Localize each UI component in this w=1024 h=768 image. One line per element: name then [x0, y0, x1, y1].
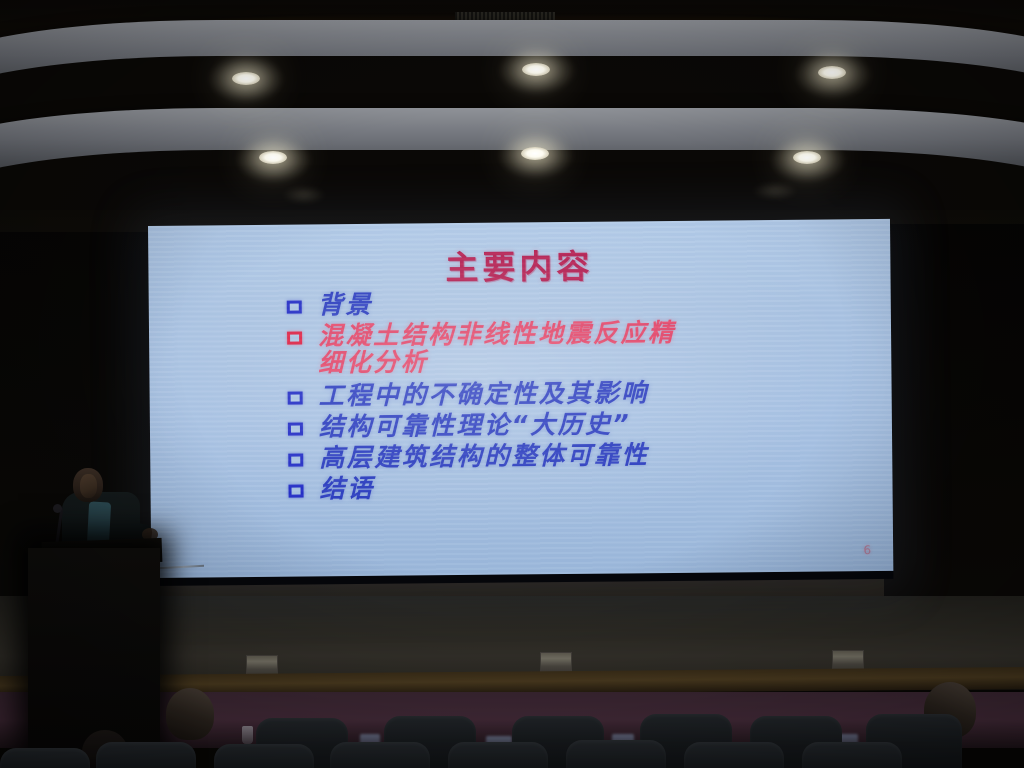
bullet-square-icon-highlighted	[287, 332, 302, 345]
auditorium-seat	[96, 742, 196, 768]
list-item-continuation: 细化分析	[287, 345, 887, 376]
wall-light-reflection	[752, 182, 798, 200]
list-item: 结语	[288, 471, 888, 502]
auditorium-seat	[0, 748, 90, 768]
bullet-square-icon	[287, 301, 302, 314]
wall-light-reflection	[282, 186, 326, 204]
auditorium-seat	[802, 742, 902, 768]
ceiling-downlight-icon	[522, 63, 550, 76]
auditorium-seat	[566, 740, 666, 768]
microphone-head-icon	[53, 504, 62, 513]
bullet-square-icon	[288, 454, 303, 467]
auditorium-seat	[214, 744, 314, 768]
speaker-face	[80, 474, 97, 498]
wall-panel-right-dark	[884, 224, 1024, 604]
bullet-label: 工程中的不确定性及其影响	[319, 380, 649, 408]
bullet-square-icon	[288, 423, 303, 436]
audience-seating	[0, 700, 1024, 768]
list-item: 混凝土结构非线性地震反应精	[287, 318, 887, 349]
auditorium-seat	[448, 742, 548, 768]
bullet-label: 背景	[318, 292, 373, 318]
auditorium-scene: 主要内容 背景 混凝土结构非线性地震反应精 细化分析 工程中的不确定性及其影响	[0, 0, 1024, 768]
ceiling-downlight-icon	[521, 147, 549, 160]
ceiling-downlight-icon	[793, 151, 821, 164]
ceiling-downlight-icon	[818, 66, 846, 79]
auditorium-seat	[330, 742, 430, 768]
bullet-square-icon	[288, 485, 303, 498]
bullet-label: 高层建筑结构的整体可靠性	[319, 442, 649, 470]
bullet-label-highlighted: 混凝土结构非线性地震反应精	[318, 320, 676, 348]
bullet-label-continuation: 细化分析	[318, 349, 428, 375]
slide-page-number: 6	[863, 543, 871, 557]
projection-screen-frame: 主要内容 背景 混凝土结构非线性地震反应精 细化分析 工程中的不确定性及其影响	[148, 219, 893, 586]
drink-cup	[242, 726, 253, 744]
projection-screen: 主要内容 背景 混凝土结构非线性地震反应精 细化分析 工程中的不确定性及其影响	[148, 219, 893, 578]
slide-bullet-list: 背景 混凝土结构非线性地震反应精 细化分析 工程中的不确定性及其影响 结构可靠性	[287, 287, 889, 508]
list-item: 背景	[287, 287, 887, 318]
audience-head	[166, 688, 214, 740]
list-item: 工程中的不确定性及其影响	[288, 378, 888, 409]
ceiling-downlight-icon	[259, 151, 287, 164]
bullet-label: 结构可靠性理论“大历史”	[319, 411, 631, 439]
list-item: 高层建筑结构的整体可靠性	[288, 440, 888, 471]
bullet-label: 结语	[319, 476, 374, 502]
ceiling-downlight-icon	[232, 72, 260, 85]
slide-title: 主要内容	[148, 237, 890, 292]
bullet-square-icon	[288, 392, 303, 405]
list-item: 结构可靠性理论“大历史”	[288, 409, 888, 440]
auditorium-seat	[684, 742, 784, 768]
